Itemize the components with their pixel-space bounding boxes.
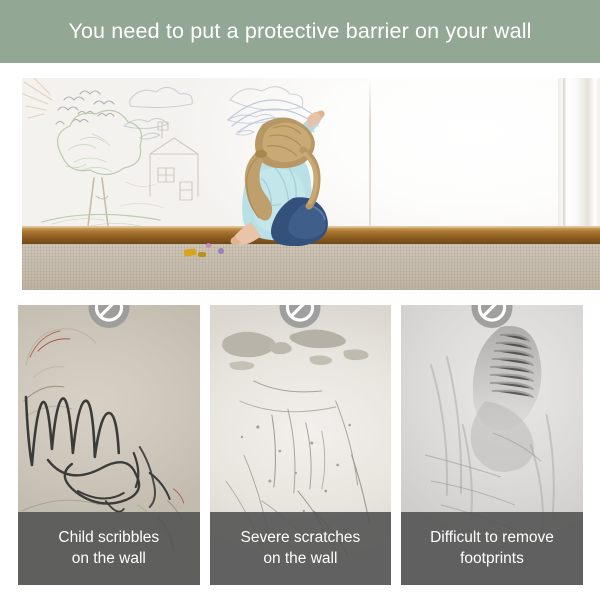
panel-severe-scratches: Severe scratches on the wall (210, 305, 392, 585)
product-banner: You need to put a protective barrier on … (0, 0, 600, 600)
panel-caption-text: Severe scratches on the wall (241, 528, 361, 569)
panel-caption: Difficult to remove footprints (401, 512, 583, 585)
prohibition-icon (280, 305, 321, 328)
child-figure-icon (207, 106, 357, 246)
hero-photo (22, 78, 600, 290)
prohibition-icon (88, 305, 129, 328)
problem-panels: Child scribbles on the wall (18, 305, 583, 585)
panel-child-scribbles: Child scribbles on the wall (18, 305, 200, 585)
crayon-toy (218, 248, 224, 254)
page-title: You need to put a protective barrier on … (68, 19, 531, 44)
carpet-floor (22, 244, 600, 290)
panel-caption-text: Difficult to remove footprints (430, 528, 554, 569)
panel-caption-text: Child scribbles on the wall (58, 528, 159, 569)
prohibition-icon (471, 305, 512, 328)
crayon-toy (198, 252, 206, 257)
panel-difficult-footprints: Difficult to remove footprints (401, 305, 583, 585)
panel-caption: Child scribbles on the wall (18, 512, 200, 585)
panel-caption: Severe scratches on the wall (210, 512, 392, 585)
header-bar: You need to put a protective barrier on … (0, 0, 600, 63)
